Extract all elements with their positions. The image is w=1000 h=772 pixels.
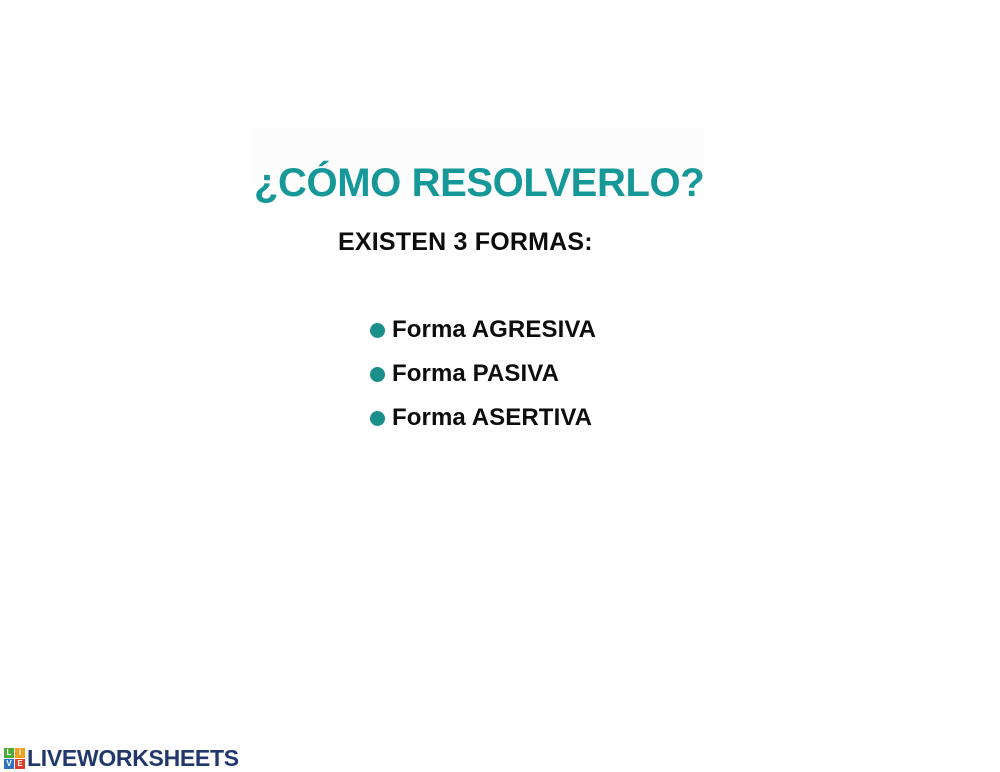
logo-wordmark: LIVEWORKSHEETS — [27, 746, 239, 770]
liveworksheets-mark-icon: L I V E — [4, 748, 25, 769]
logo-tile-v: V — [4, 759, 14, 769]
bullet-dot-icon — [370, 411, 385, 426]
logo-tile-e: E — [15, 759, 25, 769]
slide-canvas: ¿CÓMO RESOLVERLO? EXISTEN 3 FORMAS: Form… — [0, 0, 1000, 772]
bullet-dot-icon — [370, 367, 385, 382]
list-item: Forma PASIVA — [370, 352, 790, 396]
list-item-label: Forma PASIVA — [392, 360, 559, 388]
liveworksheets-logo: L I V E LIVEWORKSHEETS — [4, 746, 239, 770]
list-item-label: Forma AGRESIVA — [392, 316, 596, 344]
forms-bullet-list: Forma AGRESIVA Forma PASIVA Forma ASERTI… — [370, 308, 790, 440]
logo-tile-l: L — [4, 748, 14, 758]
page-title: ¿CÓMO RESOLVERLO? — [254, 158, 706, 208]
list-item: Forma AGRESIVA — [370, 308, 790, 352]
slide-subtitle: EXISTEN 3 FORMAS: — [338, 226, 593, 258]
list-item: Forma ASERTIVA — [370, 396, 790, 440]
list-item-label: Forma ASERTIVA — [392, 404, 592, 432]
bullet-dot-icon — [370, 323, 385, 338]
logo-tile-i: I — [15, 748, 25, 758]
